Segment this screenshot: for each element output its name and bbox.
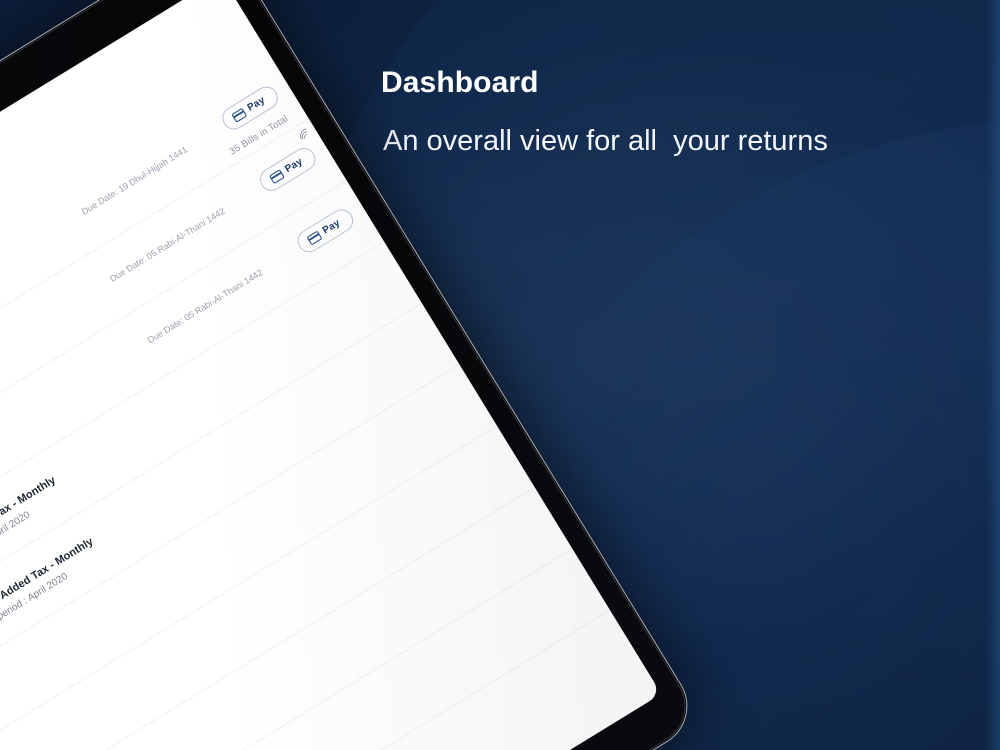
pay-button-label: Pay [321,217,342,236]
slide-canvas: Dashboard An overall view for all your r… [0,0,1000,750]
pay-button[interactable]: Pay [218,82,282,134]
credit-card-icon [231,107,247,122]
page-subtitle: An overall view for all your returns [383,125,941,158]
credit-card-icon [306,230,322,245]
headline-block: Dashboard An overall view for all your r… [381,66,941,158]
pay-button[interactable]: Pay [255,144,319,196]
pay-button[interactable]: Pay [293,205,357,257]
page-title: Dashboard [381,66,941,99]
pay-button-label: Pay [283,156,304,175]
credit-card-icon [268,169,284,184]
pay-button-label: Pay [246,95,267,114]
